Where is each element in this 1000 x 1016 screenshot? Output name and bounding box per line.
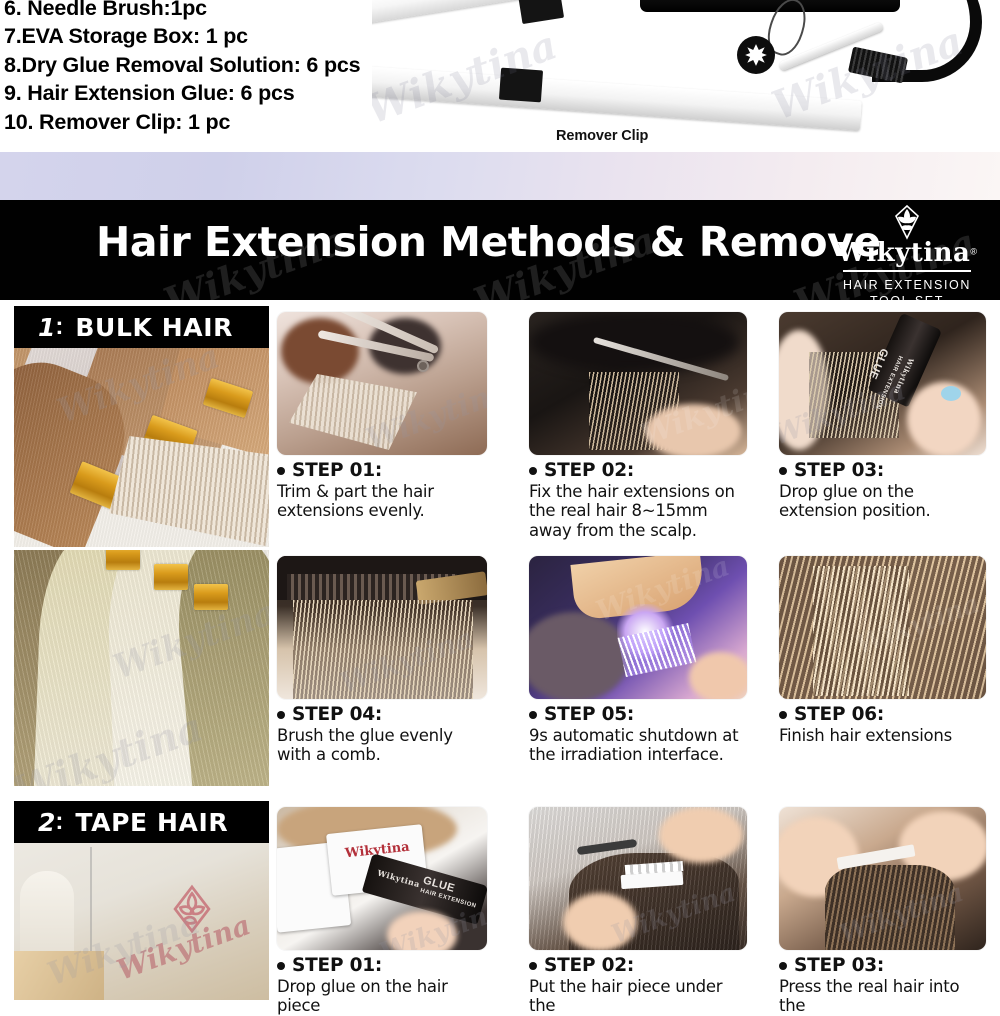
- step-description: Drop glue on the extension position.: [779, 482, 986, 521]
- bullet-icon: [779, 467, 787, 475]
- list-item: 6. Needle Brush:1pc: [4, 0, 404, 22]
- step-photo-finish: Wikytina: [779, 556, 986, 699]
- section-name: TAPE HAIR: [75, 808, 228, 837]
- step-title: STEP 04:: [292, 704, 382, 725]
- title-banner: Hair Extension Methods & Remove Wikytina…: [0, 200, 1000, 300]
- tool-set-photo: ON/OFF Wikytina Wikytina: [372, 0, 1000, 160]
- brand-name: Wikytina: [837, 240, 970, 266]
- bullet-icon: [529, 962, 537, 970]
- floral-watermark-icon: [166, 883, 218, 940]
- glue-label-brand: Wikytina: [376, 868, 421, 890]
- control-unit: ON/OFF: [640, 0, 900, 12]
- step-cell-05: Wikytina STEP 05: 9s automatic shutdown …: [529, 556, 747, 765]
- tape-step-photo-drop-glue: Wikytina GLUE HAIR EXTENSION Wikytina Wi…: [277, 807, 487, 950]
- step-description: Press the real hair into the: [779, 977, 986, 1016]
- step-photo-trim: Wikytina: [277, 312, 487, 455]
- section-colon: :: [55, 313, 63, 341]
- step-description: Trim & part the hair extensions evenly.: [277, 482, 487, 521]
- photo-caption-remover-clip: Remover Clip: [556, 128, 648, 144]
- tape-step-cell-02: Wikytina STEP 02: Put the hair piece und…: [529, 807, 747, 1016]
- step-photo-uv-cure: Wikytina: [529, 556, 747, 699]
- tape-step-cell-03: Wikytina STEP 03: Press the real hair in…: [779, 807, 986, 1016]
- logo-subtitle-line2: TOOL SET: [832, 293, 982, 300]
- step-title: STEP 03:: [794, 460, 884, 481]
- bulk-hair-photo-bottom: Wikytina Wikytina: [14, 550, 269, 786]
- step-title: STEP 03:: [794, 955, 884, 976]
- step-photo-fix: Wikytina: [529, 312, 747, 455]
- bullet-icon: [529, 711, 537, 719]
- brand-emblem-icon: [737, 36, 775, 74]
- tape-step-cell-01: Wikytina GLUE HAIR EXTENSION Wikytina Wi…: [277, 807, 487, 1016]
- step-cell-03: GLUE HAIR EXTENSION Wikytina Wikytina ST…: [779, 312, 986, 521]
- step-description: Put the hair piece under the: [529, 977, 747, 1016]
- bullet-icon: [779, 962, 787, 970]
- brand-logo: Wikytina® HAIR EXTENSION TOOL SET: [832, 204, 982, 300]
- step-photo-brush-glue: Wikytina: [277, 556, 487, 699]
- hair-bundles-image: Wikytina Wikytina: [14, 550, 269, 786]
- list-item: 8.Dry Glue Removal Solution: 6 pcs: [4, 51, 404, 79]
- registered-mark: ®: [970, 247, 977, 257]
- step-cell-04: Wikytina STEP 04: Brush the glue evenly …: [277, 556, 487, 765]
- list-item: 10. Remover Clip: 1 pc: [4, 108, 404, 136]
- section-label-bulk-hair: 1 : BULK HAIR: [14, 306, 269, 348]
- step-description: Fix the hair extensions on the real hair…: [529, 482, 747, 540]
- step-title: STEP 02:: [544, 955, 634, 976]
- tape-step-photo-press: Wikytina: [779, 807, 986, 950]
- step-title: STEP 01:: [292, 955, 382, 976]
- step-title: STEP 06:: [794, 704, 884, 725]
- step-heading: STEP 03:: [779, 460, 986, 481]
- section-number: 2: [38, 808, 55, 837]
- step-heading: STEP 02:: [529, 460, 747, 481]
- step-title: STEP 02:: [544, 460, 634, 481]
- section-label-tape-hair: 2 : TAPE HAIR: [14, 801, 269, 843]
- step-cell-01: Wikytina STEP 01: Trim & part the hair e…: [277, 312, 487, 521]
- step-title: STEP 05:: [544, 704, 634, 725]
- bullet-icon: [277, 711, 285, 719]
- step-heading: STEP 05:: [529, 704, 747, 725]
- iron-upper-grip: [518, 0, 564, 24]
- logo-divider: [843, 270, 971, 272]
- section-tape-hair: Wikytina Wikytina 2 : TAPE HAIR Wikytina…: [0, 795, 1000, 1000]
- step-heading: STEP 01:: [277, 460, 487, 481]
- list-item: 9. Hair Extension Glue: 6 pcs: [4, 79, 404, 107]
- package-contents-list: 6. Needle Brush:1pc 7.EVA Storage Box: 1…: [4, 0, 404, 136]
- step-cell-02: Wikytina STEP 02: Fix the hair extension…: [529, 312, 747, 540]
- page-title: Hair Extension Methods & Remove: [96, 218, 881, 266]
- brand-name-wrap: Wikytina®: [832, 240, 982, 266]
- logo-subtitle-line1: HAIR EXTENSION: [832, 277, 982, 294]
- heat-iron-lower: [372, 66, 862, 131]
- list-item: 7.EVA Storage Box: 1 pc: [4, 22, 404, 50]
- step-heading: STEP 01:: [277, 955, 487, 976]
- top-specs-section: ON/OFF Wikytina Wikytina 6. Needle Brush…: [0, 0, 1000, 160]
- step-description: 9s automatic shutdown at the irradiation…: [529, 726, 747, 765]
- step-heading: STEP 06:: [779, 704, 986, 725]
- step-heading: STEP 03:: [779, 955, 986, 976]
- section-number: 1: [38, 313, 55, 342]
- bullet-icon: [277, 962, 285, 970]
- bullet-icon: [779, 711, 787, 719]
- section-name: BULK HAIR: [75, 313, 233, 342]
- step-photo-drop-glue: GLUE HAIR EXTENSION Wikytina Wikytina: [779, 312, 986, 455]
- tape-step-photo-place: Wikytina: [529, 807, 747, 950]
- gradient-divider: [0, 152, 1000, 200]
- floral-emblem-icon: [832, 204, 982, 240]
- step-title: STEP 01:: [292, 460, 382, 481]
- section-colon: :: [55, 808, 63, 836]
- step-description: Finish hair extensions: [779, 726, 986, 745]
- section-bulk-hair: Wikytina Wikytina Wikytina 1 : BULK HAIR: [0, 300, 1000, 790]
- step-description: Drop glue on the hair piece: [277, 977, 487, 1016]
- step-heading: STEP 04:: [277, 704, 487, 725]
- bullet-icon: [277, 467, 285, 475]
- step-cell-06: Wikytina STEP 06: Finish hair extensions: [779, 556, 986, 745]
- iron-lower-grip: [499, 68, 543, 103]
- step-heading: STEP 02:: [529, 955, 747, 976]
- step-description: Brush the glue evenly with a comb.: [277, 726, 487, 765]
- bullet-icon: [529, 467, 537, 475]
